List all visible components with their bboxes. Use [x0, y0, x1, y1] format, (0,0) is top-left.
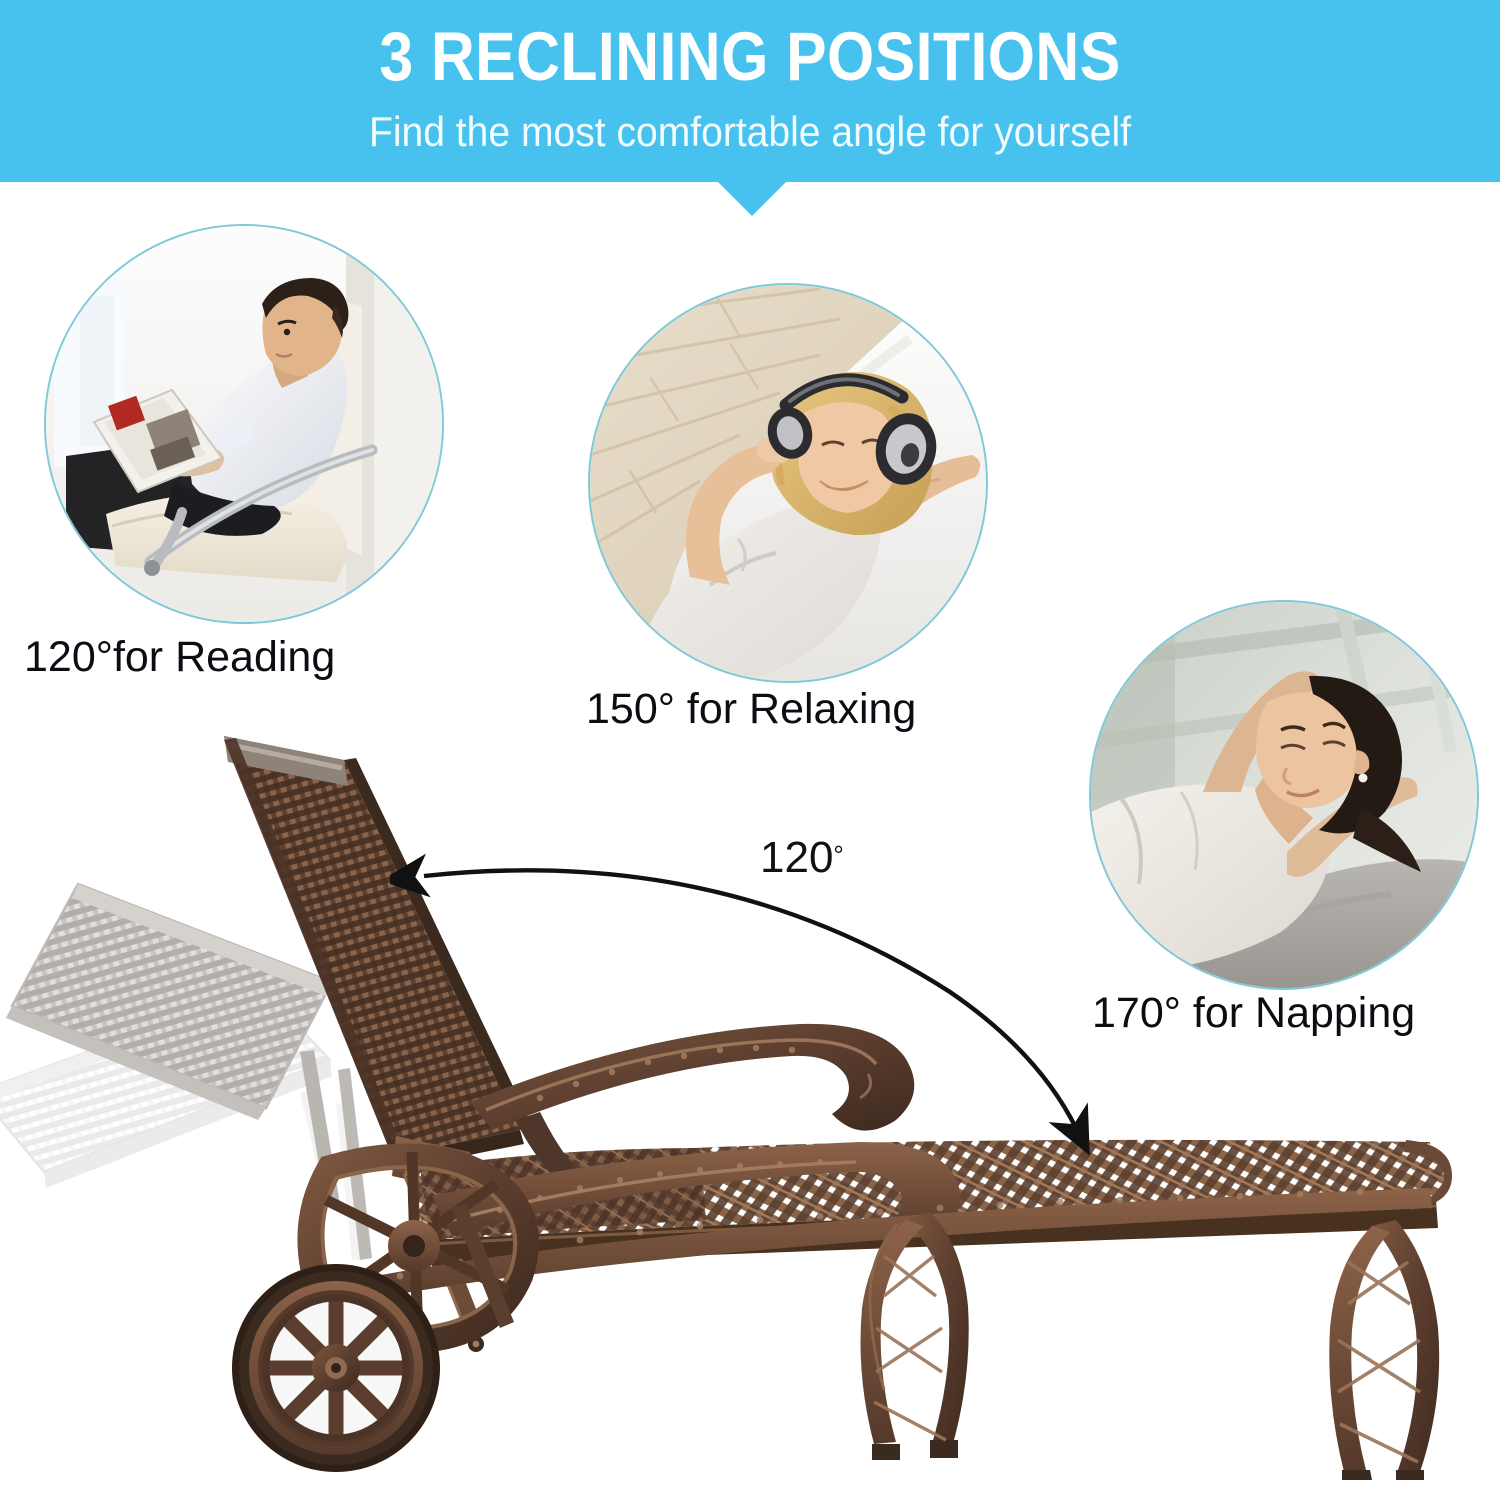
caption-reading-text: 120°for Reading	[24, 633, 335, 681]
angle-value: 120	[760, 833, 833, 882]
header-banner: 3 RECLINING POSITIONS Find the most comf…	[0, 0, 1500, 182]
page-subtitle: Find the most comfortable angle for your…	[53, 111, 1448, 153]
page-title: 3 RECLINING POSITIONS	[90, 22, 1410, 91]
chair-wheel	[232, 1264, 440, 1472]
degree-symbol: °	[833, 840, 843, 870]
chair-leg-mid	[861, 1212, 969, 1460]
chair-leg-right	[1329, 1220, 1439, 1480]
angle-annotation: 120°	[760, 836, 844, 880]
photo-circle-reading	[44, 224, 444, 624]
down-triangle-notch-icon	[718, 182, 786, 216]
photo-circle-relaxing	[588, 283, 988, 683]
photo-reading	[46, 226, 442, 622]
caption-reading: 120°for Reading	[24, 636, 335, 679]
photo-relaxing	[590, 285, 986, 681]
